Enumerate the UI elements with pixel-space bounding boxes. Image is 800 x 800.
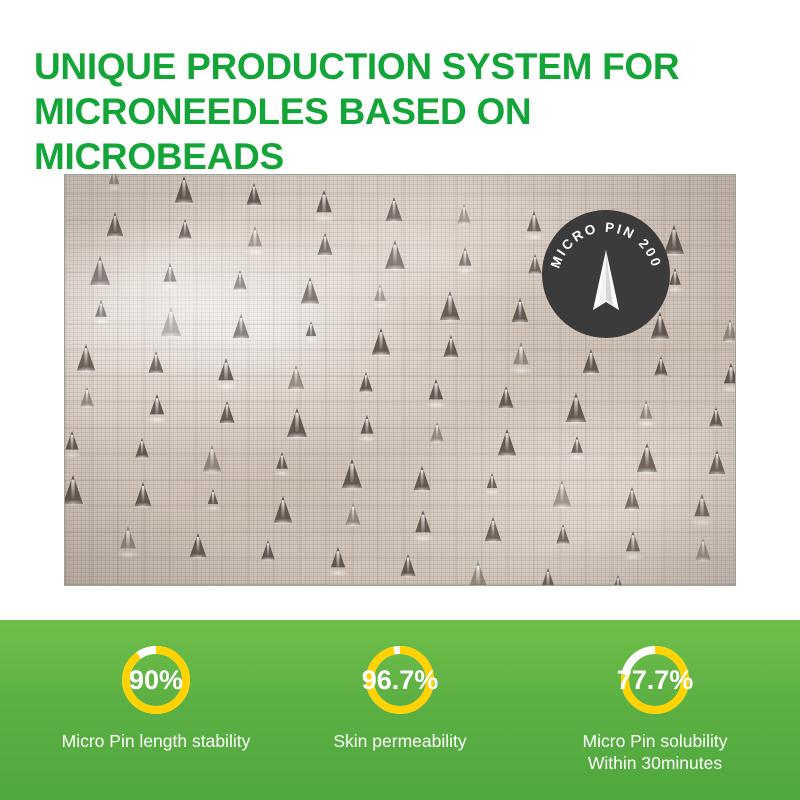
page-title: UNIQUE PRODUCTION SYSTEM FOR MICRONEEDLE… (34, 44, 774, 179)
stat-caption-secondary: Within 30minutes (544, 752, 766, 774)
stat-item: 77.7% Micro Pin solubility Within 30minu… (544, 642, 766, 774)
stat-value: 77.7% (599, 642, 711, 718)
micro-pin-badge: MICRO PIN 200 (542, 210, 670, 338)
stat-item: 96.7% Skin permeability (288, 642, 512, 752)
stat-caption: Micro Pin solubility (544, 730, 766, 752)
gauge-0: 90% (100, 642, 212, 718)
stats-bar: 90% Micro Pin length stability 96.7% Ski… (0, 620, 800, 800)
stat-item: 90% Micro Pin length stability (40, 642, 272, 752)
micro-pin-needle-icon (584, 250, 628, 316)
stat-caption: Skin permeability (288, 730, 512, 752)
gauge-2: 77.7% (599, 642, 711, 718)
page-title-line1: UNIQUE PRODUCTION SYSTEM FOR (34, 46, 679, 87)
stat-caption: Micro Pin length stability (40, 730, 272, 752)
stat-value: 90% (100, 642, 212, 718)
gauge-1: 96.7% (344, 642, 456, 718)
page-title-line2: MICRONEEDLES BASED ON MICROBEADS (34, 89, 774, 179)
stat-value: 96.7% (344, 642, 456, 718)
